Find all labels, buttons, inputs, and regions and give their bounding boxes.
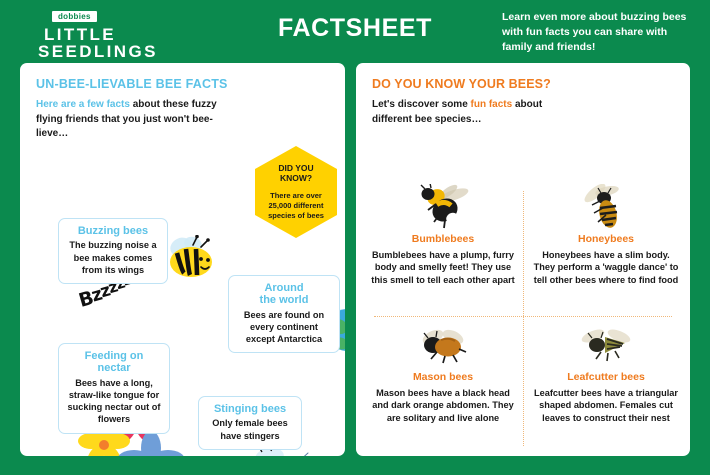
fact-card-title-line1: Feeding on (67, 350, 161, 362)
fact-card-title-line2: the world (237, 294, 331, 306)
right-intro-pre: Let's discover some (372, 99, 471, 110)
species-name: Mason bees (363, 371, 523, 383)
fact-card-body: Only female bees have stingers (207, 417, 293, 441)
species-cell-honeybees: Honeybees Honeybees have a slim body. Th… (526, 183, 686, 286)
fact-card-title: Stinging bees (207, 403, 293, 415)
header-note: Learn even more about buzzing bees with … (502, 10, 692, 56)
right-panel-header: DO YOU KNOW YOUR BEES? Let's discover so… (356, 63, 690, 127)
fact-card-buzzing-bees: Buzzing bees The buzzing noise a bee mak… (58, 218, 168, 284)
fact-card-around-the-world: Around the world Bees are found on every… (228, 275, 340, 353)
fact-card-title-line1: Around (237, 282, 331, 294)
right-intro-highlight: fun facts (471, 99, 513, 110)
cartoon-bee-icon (163, 235, 219, 288)
hex-left-title-1: DID YOU (278, 163, 313, 173)
left-intro-highlight: Here are a few facts (36, 99, 130, 110)
right-panel: DO YOU KNOW YOUR BEES? Let's discover so… (356, 63, 690, 456)
species-description: Honeybees have a slim body. They perform… (526, 249, 686, 286)
factsheet-page: dobbies LITTLE SEEDLINGS FACTSHEET Learn… (0, 0, 710, 475)
honeybee-icon (526, 183, 686, 231)
right-panel-intro: Let's discover some fun facts about diff… (372, 98, 572, 127)
left-panel-intro: Here are a few facts about these fuzzy f… (36, 98, 236, 142)
fact-card-body: The buzzing noise a bee makes comes from… (67, 239, 159, 276)
did-you-know-hexagon-left: DID YOU KNOW? There are over 25,000 diff… (255, 146, 337, 238)
page-header: dobbies LITTLE SEEDLINGS FACTSHEET Learn… (0, 0, 710, 62)
species-cell-bumblebees: Bumblebees Bumblebees have a plump, furr… (363, 183, 523, 286)
left-panel-heading: UN-BEE-LIEVABLE BEE FACTS (36, 77, 329, 91)
species-description: Bumblebees have a plump, furry body and … (363, 249, 523, 286)
mason-bee-icon (363, 321, 523, 369)
species-grid: Bumblebees Bumblebees have a plump, furr… (356, 181, 690, 456)
brand-line-2: SEEDLINGS (38, 43, 162, 60)
leafcutter-bee-icon (526, 321, 686, 369)
species-name: Leafcutter bees (526, 371, 686, 383)
hex-left-body: There are over 25,000 different species … (255, 191, 337, 221)
fact-card-feeding-on-nectar: Feeding on nectar Bees have a long, stra… (58, 343, 170, 434)
species-name: Honeybees (526, 233, 686, 245)
species-name: Bumblebees (363, 233, 523, 245)
small-bee-icon (342, 291, 345, 318)
fact-card-body: Bees have a long, straw-like tongue for … (67, 377, 161, 426)
fact-card-body: Bees are found on every continent except… (237, 309, 331, 346)
fact-card-stinging-bees: Stinging bees Only female bees have stin… (198, 396, 302, 450)
species-cell-leafcutter-bees: Leafcutter bees Leafcutter bees have a t… (526, 321, 686, 424)
hex-left-title-2: KNOW? (280, 173, 312, 183)
fact-card-title: Buzzing bees (67, 225, 159, 237)
grid-horizontal-divider (374, 316, 672, 317)
bumblebee-icon (363, 183, 523, 231)
right-panel-heading: DO YOU KNOW YOUR BEES? (372, 77, 674, 91)
grid-vertical-divider (523, 191, 524, 446)
left-panel: UN-BEE-LIEVABLE BEE FACTS Here are a few… (20, 63, 345, 456)
species-cell-mason-bees: Mason bees Mason bees have a black head … (363, 321, 523, 424)
left-panel-header: UN-BEE-LIEVABLE BEE FACTS Here are a few… (20, 63, 345, 142)
species-description: Leafcutter bees have a triangular shaped… (526, 387, 686, 424)
fact-card-title-line2: nectar (67, 362, 161, 374)
species-description: Mason bees have a black head and dark or… (363, 387, 523, 424)
